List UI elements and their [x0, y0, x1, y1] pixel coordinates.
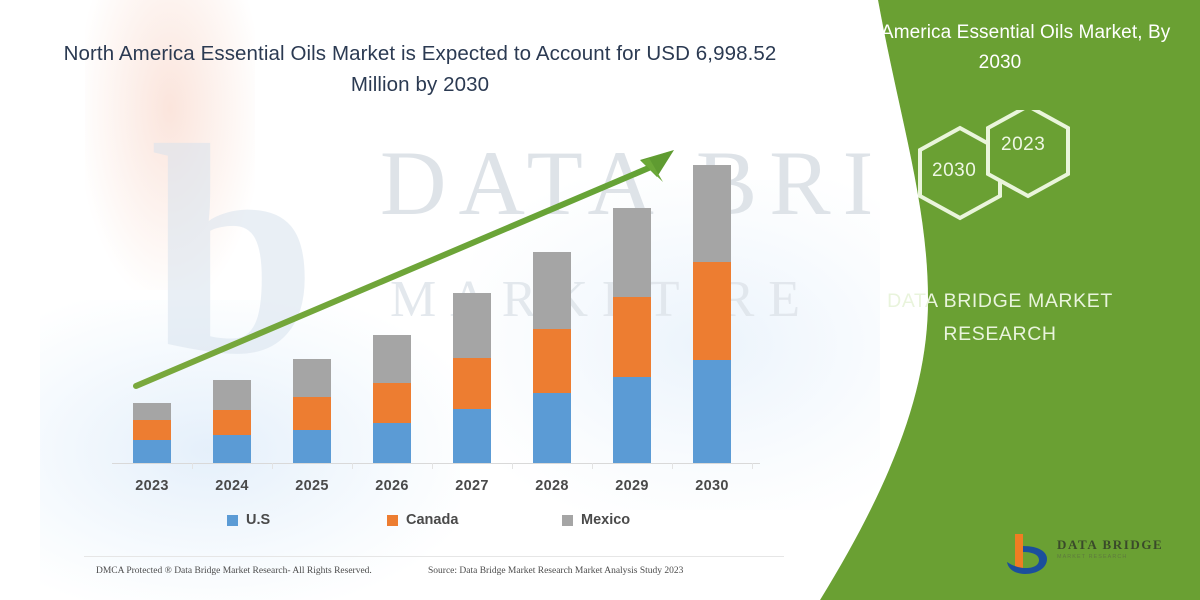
x-axis-label-2026: 2026	[352, 478, 432, 494]
logo-b-icon	[1005, 532, 1053, 578]
legend-label: U.S	[246, 512, 270, 528]
brand-name: DATA BRIDGE MARKET RESEARCH	[820, 285, 1180, 351]
bar-segment-canada-2023	[133, 420, 171, 440]
bar-segment-mexico-2025	[293, 359, 331, 397]
chart-baseline	[112, 463, 760, 464]
hexagon-icons	[820, 110, 1180, 240]
bar-segment-us-2028	[533, 393, 571, 463]
x-axis-label-2023: 2023	[112, 478, 192, 494]
infographic-root: b DATA BRIDGE MARKET RE North America Es…	[0, 0, 1200, 600]
x-axis-label-2028: 2028	[512, 478, 592, 494]
x-axis-label-2030: 2030	[672, 478, 752, 494]
bar-segment-canada-2030	[693, 262, 731, 360]
bar-segment-canada-2027	[453, 358, 491, 409]
bar-segment-us-2023	[133, 440, 171, 463]
bar-segment-canada-2028	[533, 329, 571, 393]
footer-copyright: DMCA Protected ® Data Bridge Market Rese…	[96, 566, 372, 576]
bar-segment-us-2027	[453, 409, 491, 463]
x-axis-label-2024: 2024	[192, 478, 272, 494]
x-axis-label-2029: 2029	[592, 478, 672, 494]
legend-swatch-icon	[562, 515, 573, 526]
footer-divider	[84, 556, 784, 557]
bar-segment-canada-2029	[613, 297, 651, 377]
chart-tick	[352, 463, 353, 469]
logo-tagline: MARKET RESEARCH	[1057, 554, 1127, 560]
bar-segment-us-2030	[693, 360, 731, 463]
chart-tick	[672, 463, 673, 469]
bar-segment-mexico-2030	[693, 165, 731, 262]
legend-item-canada[interactable]: Canada	[387, 512, 458, 528]
legend-item-us[interactable]: U.S	[227, 512, 270, 528]
bar-segment-canada-2025	[293, 397, 331, 430]
logo-name: DATA BRIDGE	[1057, 537, 1163, 553]
growth-arrow-icon	[0, 0, 880, 600]
chart-tick	[192, 463, 193, 469]
bar-2030[interactable]	[693, 165, 731, 463]
hexagon-group: 2030 2023	[820, 110, 1180, 240]
bar-segment-mexico-2028	[533, 252, 571, 329]
brand-line-2: RESEARCH	[943, 323, 1056, 345]
chart-tick	[272, 463, 273, 469]
chart-legend: U.SCanadaMexico	[112, 512, 752, 536]
legend-label: Mexico	[581, 512, 630, 528]
legend-item-mexico[interactable]: Mexico	[562, 512, 630, 528]
bar-2028[interactable]	[533, 252, 571, 463]
bar-segment-mexico-2023	[133, 403, 171, 420]
bar-segment-mexico-2029	[613, 208, 651, 297]
bar-segment-mexico-2026	[373, 335, 411, 383]
x-axis-label-2025: 2025	[272, 478, 352, 494]
bar-2027[interactable]	[453, 293, 491, 463]
green-panel-title: North America Essential Oils Market, By …	[820, 18, 1180, 78]
bar-segment-us-2029	[613, 377, 651, 463]
bar-2029[interactable]	[613, 208, 651, 463]
x-axis-label-2027: 2027	[432, 478, 512, 494]
company-logo: DATA BRIDGE MARKET RESEARCH	[1005, 530, 1195, 582]
hexagon-2030-label: 2030	[932, 160, 976, 182]
bar-segment-mexico-2024	[213, 380, 251, 410]
hexagon-2023-label: 2023	[1001, 134, 1045, 156]
stacked-bar-chart: 20232024202520262027202820292030	[0, 0, 880, 600]
chart-tick	[592, 463, 593, 469]
bar-segment-mexico-2027	[453, 293, 491, 358]
legend-swatch-icon	[227, 515, 238, 526]
legend-label: Canada	[406, 512, 458, 528]
footer-source: Source: Data Bridge Market Research Mark…	[428, 566, 683, 576]
bar-2026[interactable]	[373, 335, 411, 463]
green-side-panel: North America Essential Oils Market, By …	[780, 0, 1200, 600]
bar-segment-us-2026	[373, 423, 411, 463]
left-content-panel: b DATA BRIDGE MARKET RE North America Es…	[0, 0, 880, 600]
bar-segment-us-2024	[213, 435, 251, 463]
bar-segment-canada-2024	[213, 410, 251, 435]
chart-tick	[752, 463, 753, 469]
chart-tick	[432, 463, 433, 469]
legend-swatch-icon	[387, 515, 398, 526]
bar-2023[interactable]	[133, 403, 171, 463]
brand-line-1: DATA BRIDGE MARKET	[887, 290, 1113, 312]
bar-segment-us-2025	[293, 430, 331, 463]
bar-segment-canada-2026	[373, 383, 411, 423]
bar-2024[interactable]	[213, 380, 251, 463]
chart-tick	[512, 463, 513, 469]
bar-2025[interactable]	[293, 359, 331, 463]
